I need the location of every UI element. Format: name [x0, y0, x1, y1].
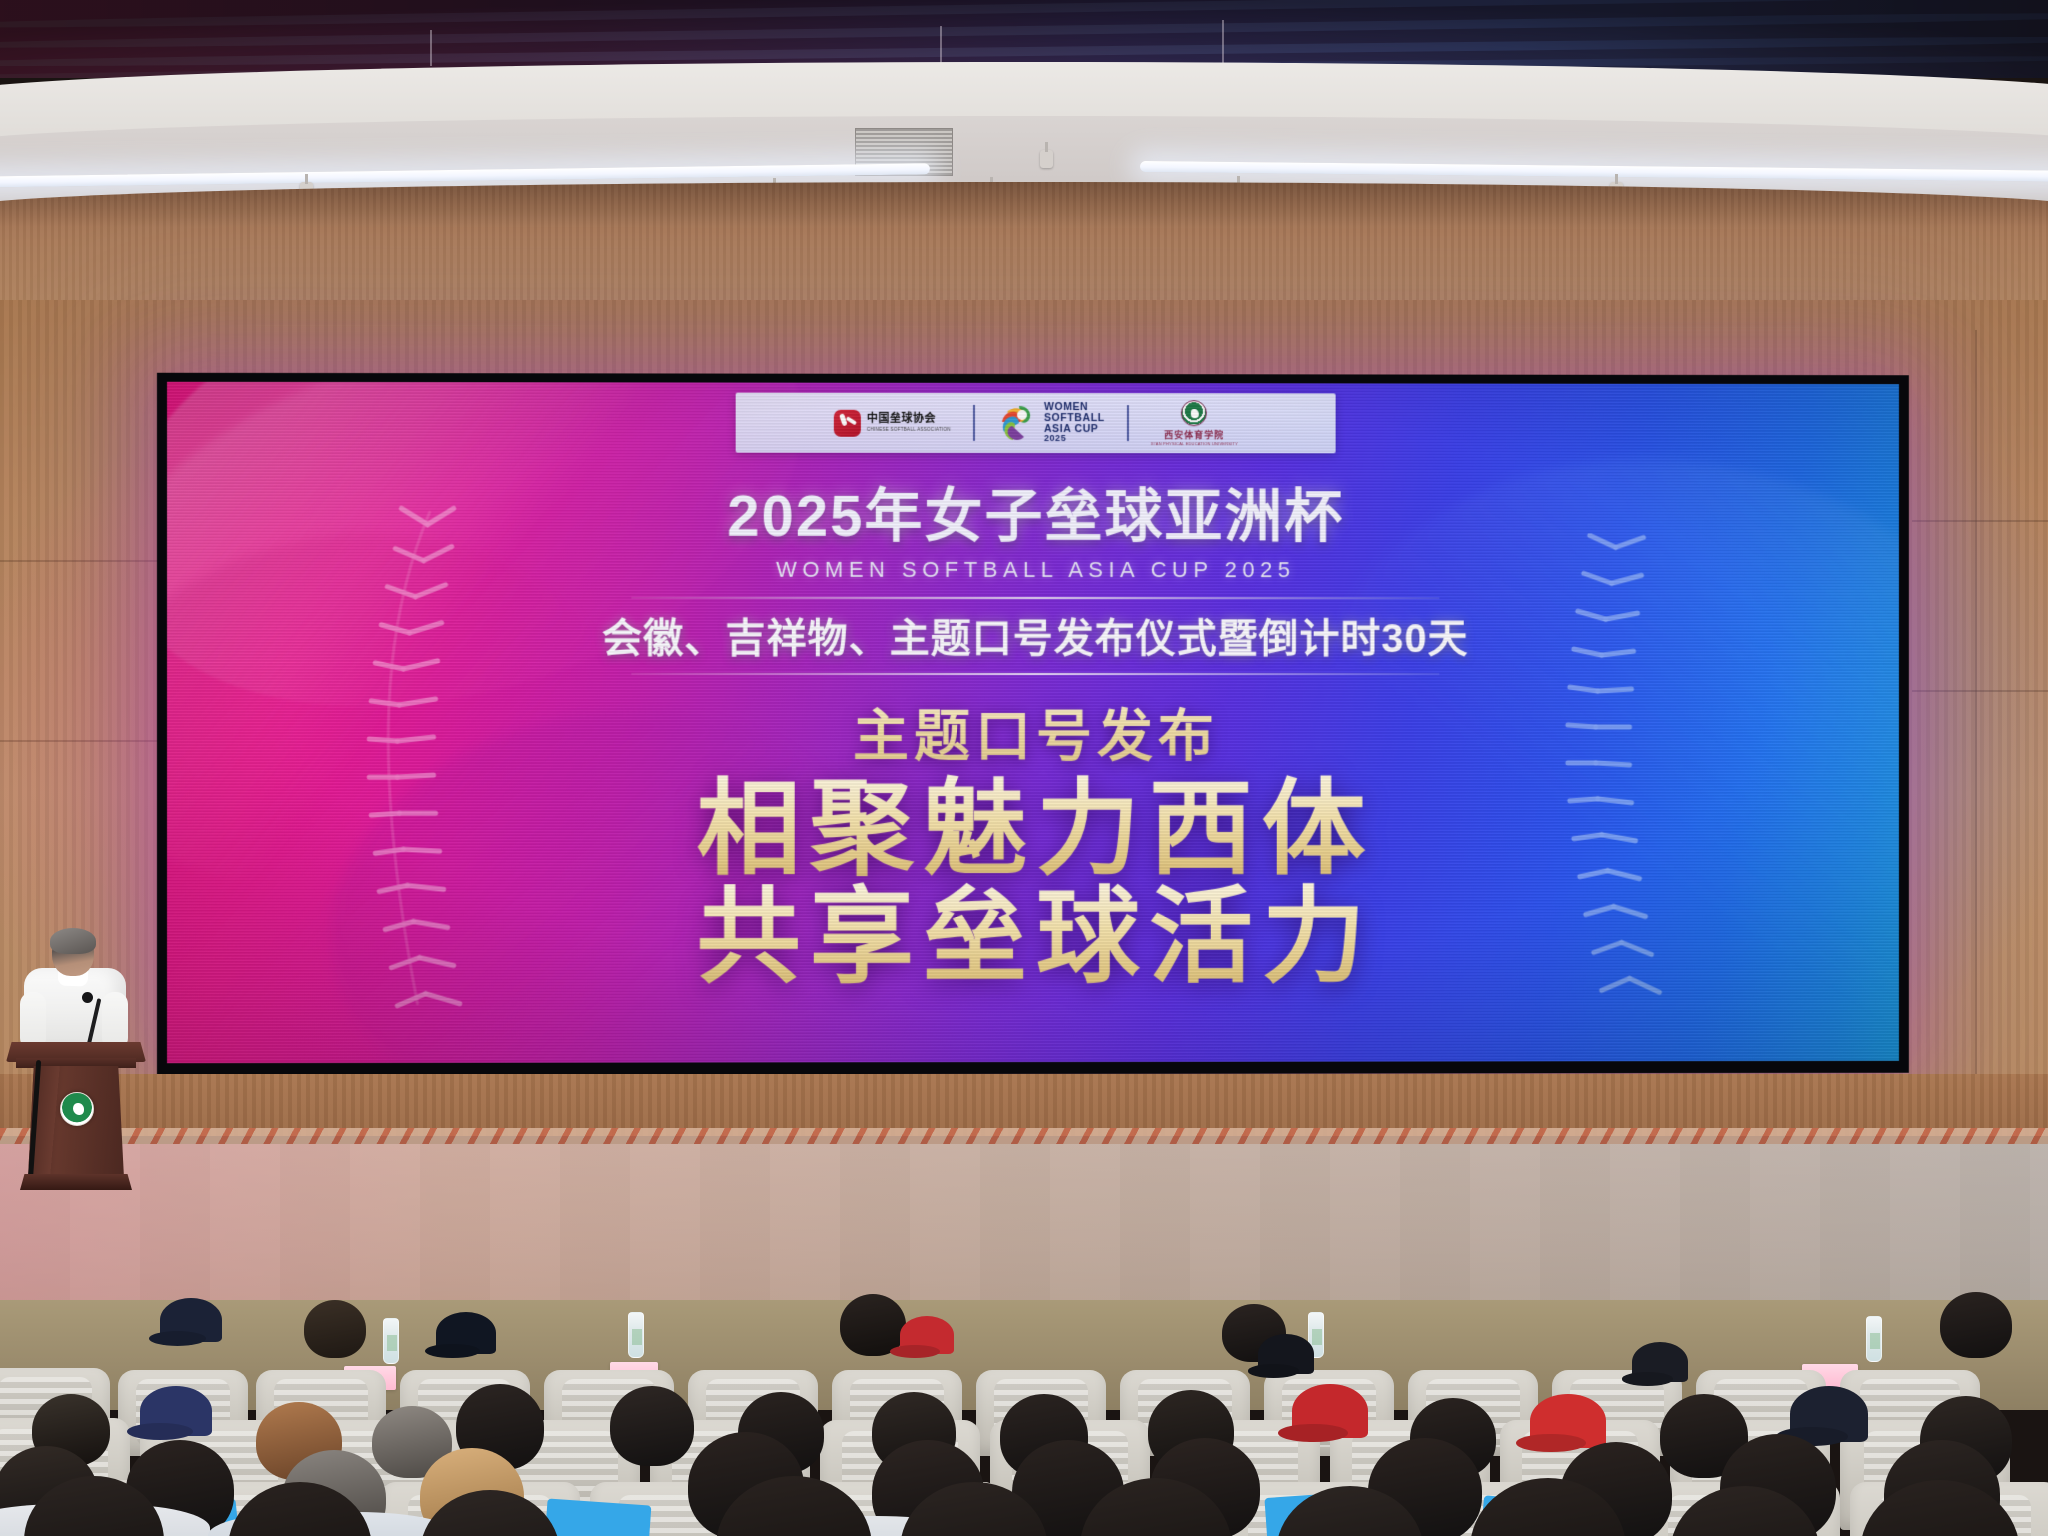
baseball-cap	[1530, 1394, 1606, 1448]
water-bottle	[628, 1312, 644, 1358]
university-cn-name: 西安体育学院	[1164, 428, 1224, 441]
attendee-head	[1940, 1292, 2012, 1358]
team-shirt-stripe	[545, 1498, 652, 1536]
green-circular-seal-icon	[1181, 400, 1207, 426]
logo-china-softball-association: 中国垒球协会 CHINESE SOFTBALL ASSOCIATION	[812, 409, 973, 436]
wall-seam	[0, 560, 162, 562]
baseball-cap	[1258, 1334, 1314, 1374]
stage-wainscot	[0, 1074, 2048, 1136]
logo-divider	[1127, 405, 1129, 441]
logo-divider	[973, 405, 975, 441]
microphone-capsule-icon	[82, 992, 93, 1003]
wall-seam	[1975, 330, 1977, 1120]
ceiling-spot-light	[1040, 150, 1053, 168]
university-en-name: XI'AN PHYSICAL EDUCATION UNIVERSITY	[1151, 441, 1238, 446]
baseball-cap	[1292, 1384, 1368, 1438]
baseball-cap	[436, 1312, 496, 1354]
slogan-line-1: 相聚魅力西体	[697, 774, 1375, 887]
speaker-hair	[50, 928, 96, 954]
baseball-cap	[1790, 1386, 1868, 1442]
attendee-head	[610, 1386, 694, 1466]
speaker-arm-left	[20, 992, 46, 1050]
baseball-cap	[140, 1386, 212, 1436]
led-video-wall[interactable]: 中国垒球协会 CHINESE SOFTBALL ASSOCIATION	[157, 373, 1909, 1075]
water-bottle	[1866, 1316, 1882, 1362]
logo-women-softball-asia-cup: WOMEN SOFTBALL ASIA CUP 2025	[975, 402, 1127, 443]
auditorium-scene: 中国垒球协会 CHINESE SOFTBALL ASSOCIATION	[0, 0, 2048, 1536]
slide-content: 中国垒球协会 CHINESE SOFTBALL ASSOCIATION	[167, 382, 1899, 1063]
event-subtitle-cn: 会徽、吉祥物、主题口号发布仪式暨倒计时30天	[602, 606, 1468, 664]
speaker-arm-right	[102, 992, 128, 1050]
event-subtitle-band: 会徽、吉祥物、主题口号发布仪式暨倒计时30天	[576, 597, 1494, 675]
baseball-cap	[900, 1316, 954, 1354]
csa-cn-name: 中国垒球协会	[867, 414, 951, 425]
event-title-en: WOMEN SOFTBALL ASIA CUP 2025	[776, 557, 1296, 583]
baseball-cap	[160, 1298, 222, 1342]
wall-seam	[0, 740, 162, 742]
red-rounded-square-player-icon	[834, 409, 861, 436]
baseball-cap	[1632, 1342, 1688, 1382]
wall-seam	[1912, 520, 2048, 522]
water-bottle	[383, 1318, 399, 1364]
csa-en-name: CHINESE SOFTBALL ASSOCIATION	[867, 427, 951, 432]
podium-base	[20, 1174, 132, 1190]
slogan-line-2: 共享垒球活力	[697, 882, 1375, 995]
audience-area	[0, 1290, 2048, 1536]
green-circular-seal-icon	[60, 1092, 94, 1126]
led-screen-surface: 中国垒球协会 CHINESE SOFTBALL ASSOCIATION	[167, 382, 1899, 1063]
logo-host-university: 西安体育学院 XI'AN PHYSICAL EDUCATION UNIVERSI…	[1129, 400, 1260, 446]
wall-seam	[1912, 690, 2048, 692]
event-title-cn: 2025年女子垒球亚洲杯	[727, 469, 1344, 554]
colorful-swirl-emblem-icon	[997, 403, 1037, 443]
wsac-line-4: 2025	[1044, 434, 1105, 443]
speaker-and-podium[interactable]	[6, 930, 166, 1220]
attendee-head	[304, 1300, 366, 1358]
section-title-cn: 主题口号发布	[853, 691, 1219, 772]
sponsor-logo-bar: 中国垒球协会 CHINESE SOFTBALL ASSOCIATION	[736, 393, 1336, 454]
